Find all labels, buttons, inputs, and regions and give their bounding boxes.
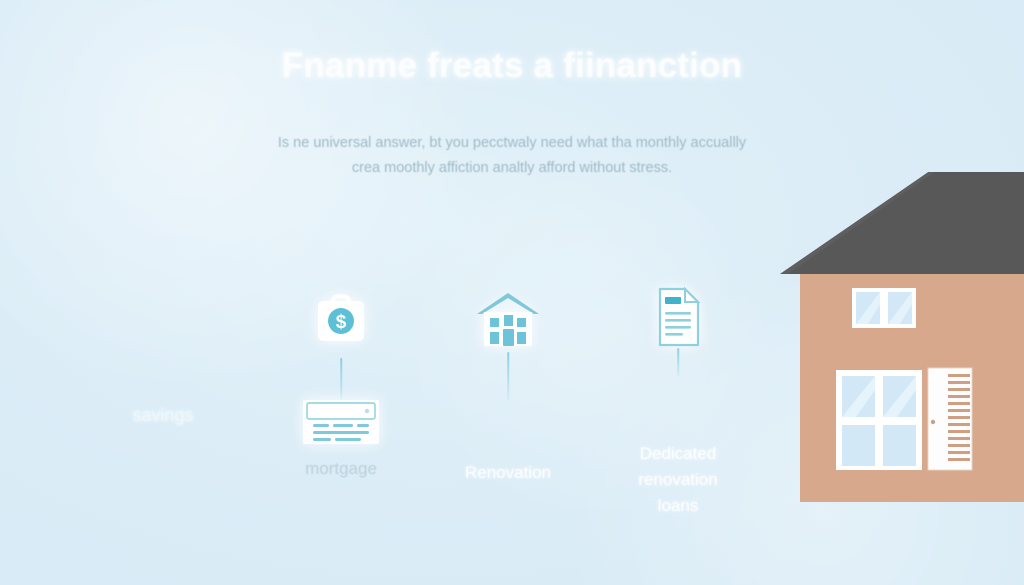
statement-card-icon xyxy=(301,398,381,446)
option-loans-connector xyxy=(677,348,679,376)
page-subtitle: Is ne universal answer, bt you pecctwaly… xyxy=(212,131,812,181)
option-loans-label-line-3: loans xyxy=(598,493,758,519)
option-renovation-label: Renovation xyxy=(428,460,588,486)
option-loans-label: Dedicated renovation loans xyxy=(598,441,758,519)
page-title: Fnanme freats a fiinanction xyxy=(0,46,1024,86)
slide-canvas: Fnanme freats a fiinanction Is ne univer… xyxy=(0,0,1024,585)
option-loans-label-line-2: renovation xyxy=(598,467,758,493)
house-icon xyxy=(473,288,543,348)
option-mortgage[interactable]: $ mortgage xyxy=(255,292,427,482)
document-icon xyxy=(649,285,707,349)
option-renovation[interactable]: Renovation xyxy=(428,288,588,486)
house-icon-box xyxy=(428,288,588,348)
document-icon-box xyxy=(598,285,758,349)
option-renovation-connector xyxy=(507,352,509,400)
svg-text:$: $ xyxy=(336,312,347,333)
briefcase-dollar-icon-box: $ xyxy=(255,292,427,350)
house-illustration xyxy=(770,172,1024,502)
option-loans-label-line-1: Dedicated xyxy=(598,441,758,467)
page-subtitle-line-1: Is ne universal answer, bt you pecctwaly… xyxy=(278,135,746,151)
option-mortgage-label: mortgage xyxy=(255,456,427,482)
briefcase-dollar-icon: $ xyxy=(311,292,371,350)
page-subtitle-line-2: crea moothly affiction analtly afford wi… xyxy=(212,156,812,181)
option-mortgage-connector xyxy=(340,358,342,402)
option-dedicated-renovation-loans[interactable]: Dedicated renovation loans xyxy=(598,285,758,519)
option-savings[interactable]: savings xyxy=(88,402,238,428)
option-savings-label: savings xyxy=(88,402,238,428)
